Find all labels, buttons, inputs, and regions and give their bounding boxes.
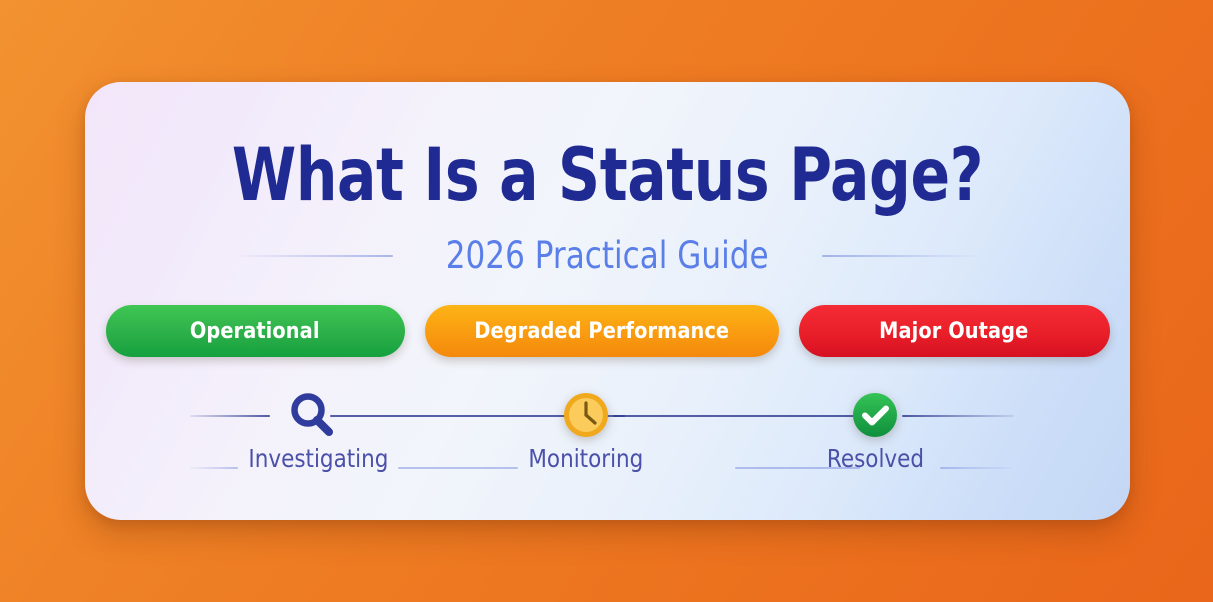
- timeline-label-rule-start: [190, 467, 238, 469]
- page-title: What Is a Status Page?: [190, 139, 1026, 212]
- status-badge-row: Operational Degraded Performance Major O…: [85, 305, 1130, 357]
- timeline-step-monitoring-label: Monitoring: [511, 446, 661, 471]
- incident-timeline: Investigating Monitoring: [85, 387, 1130, 497]
- badge-degraded-performance-label: Degraded Performance: [474, 319, 729, 344]
- badge-operational-label: Operational: [190, 319, 320, 344]
- monitoring-text: Monitoring: [528, 446, 643, 471]
- clock-icon: [511, 387, 661, 443]
- check-circle-icon: [800, 387, 950, 443]
- badge-operational[interactable]: Operational: [106, 305, 405, 357]
- timeline-step-monitoring[interactable]: Monitoring: [511, 387, 661, 471]
- page-subtitle: 2026 Practical Guide: [446, 237, 769, 274]
- badge-major-outage-label: Major Outage: [879, 319, 1028, 344]
- poster-canvas: What Is a Status Page? 2026 Practical Gu…: [0, 0, 1213, 602]
- badge-major-outage[interactable]: Major Outage: [799, 305, 1110, 357]
- status-page-card: What Is a Status Page? 2026 Practical Gu…: [85, 82, 1130, 520]
- investigating-text: Investigating: [248, 446, 388, 471]
- timeline-step-resolved-label: Resolved: [800, 446, 950, 471]
- resolved-text: Resolved: [826, 446, 923, 471]
- subtitle-rule-right: [822, 255, 977, 257]
- timeline-step-investigating[interactable]: Investigating: [237, 387, 387, 471]
- subtitle-row: 2026 Practical Guide: [85, 237, 1130, 274]
- magnifier-icon: [237, 387, 387, 443]
- timeline-label-rule-end: [940, 467, 1012, 469]
- badge-degraded-performance[interactable]: Degraded Performance: [425, 305, 779, 357]
- timeline-step-investigating-label: Investigating: [237, 446, 387, 471]
- timeline-step-resolved[interactable]: Resolved: [800, 387, 950, 471]
- timeline-label-rule-1: [398, 467, 518, 469]
- subtitle-rule-left: [238, 255, 393, 257]
